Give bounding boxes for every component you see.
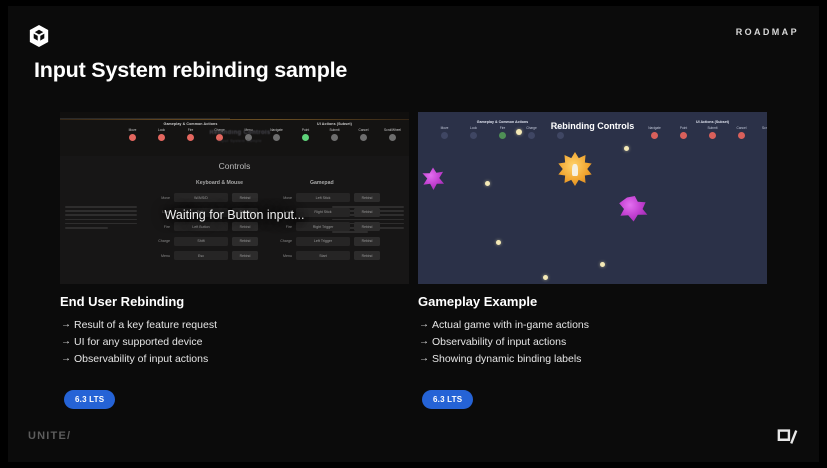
gamepad-binding-list: Move Left Stick Rebind Look Right Stick … bbox=[270, 192, 380, 265]
left-bullet-list: → Result of a key feature request → UI f… bbox=[61, 319, 217, 370]
controls-panel-title: Controls bbox=[60, 161, 409, 171]
binding-row[interactable]: Charge Left Trigger Rebind bbox=[270, 236, 380, 247]
game-hud-action-scrollwheel: ScrollWheel bbox=[756, 126, 767, 139]
binding-row[interactable]: Fire Left Button Rebind bbox=[148, 221, 258, 232]
status-dot bbox=[273, 134, 280, 141]
page-title: Input System rebinding sample bbox=[34, 58, 347, 83]
status-dot bbox=[158, 134, 165, 141]
right-block-title: Gameplay Example bbox=[418, 294, 537, 309]
waiting-for-input-overlay: Waiting for Button input... bbox=[60, 208, 409, 222]
game-hud-action-move: Move bbox=[430, 126, 459, 139]
binding-value[interactable]: Left Trigger bbox=[296, 237, 350, 246]
hud-action-cancel: Cancel bbox=[349, 128, 378, 141]
rebind-button[interactable]: Rebind bbox=[354, 251, 380, 260]
status-dot bbox=[738, 132, 745, 139]
left-block-title: End User Rebinding bbox=[60, 294, 184, 309]
binding-row[interactable]: Menu Esc Rebind bbox=[148, 250, 258, 261]
right-column: Rebinding Controls Gameplay & Common Act… bbox=[418, 112, 767, 284]
status-dot bbox=[528, 132, 535, 139]
letterbox-left bbox=[0, 0, 8, 468]
list-item: → Observability of input actions bbox=[419, 336, 589, 349]
projectile bbox=[496, 240, 501, 245]
status-dot bbox=[470, 132, 477, 139]
version-badge: 6.3 LTS bbox=[64, 390, 115, 409]
binding-value[interactable]: Left Stick bbox=[296, 193, 350, 202]
game-hud-action-fire: Fire bbox=[488, 126, 517, 139]
status-dot bbox=[557, 132, 564, 139]
rebind-button[interactable]: Rebind bbox=[232, 222, 258, 231]
game-hud-action-submit: Submit bbox=[698, 126, 727, 139]
status-dot bbox=[441, 132, 448, 139]
arrow-icon: → bbox=[61, 319, 74, 331]
binding-value[interactable]: W/A/S/D bbox=[174, 193, 228, 202]
list-item: → Result of a key feature request bbox=[61, 319, 217, 332]
hud-ui-title: UI Actions (Subset) bbox=[262, 122, 407, 126]
game-hud-ui-group: UI Actions (Subset) Navigate Point Submi… bbox=[640, 120, 767, 139]
status-dot bbox=[499, 132, 506, 139]
binding-row[interactable]: Fire Right Trigger Rebind bbox=[270, 221, 380, 232]
game-hud-action-cancel: Cancel bbox=[727, 126, 756, 139]
letterbox-top bbox=[0, 0, 827, 6]
left-column: Gameplay & Common Actions Move Look Fire bbox=[60, 112, 409, 284]
status-dot bbox=[389, 134, 396, 141]
enemy-sprite bbox=[618, 196, 648, 222]
hud-action-submit: Submit bbox=[320, 128, 349, 141]
projectile bbox=[485, 181, 490, 186]
arrow-icon: → bbox=[61, 336, 74, 348]
version-badge: 6.3 LTS bbox=[422, 390, 473, 409]
section-label: ROADMAP bbox=[736, 27, 799, 37]
end-user-rebinding-screenshot: Gameplay & Common Actions Move Look Fire bbox=[60, 112, 409, 284]
status-dot bbox=[129, 134, 136, 141]
status-dot bbox=[680, 132, 687, 139]
projectile bbox=[624, 146, 629, 151]
game-hud-action-navigate: Navigate bbox=[640, 126, 669, 139]
status-dot bbox=[360, 134, 367, 141]
binding-row[interactable]: Move W/A/S/D Rebind bbox=[148, 192, 258, 203]
game-hud-action-point: Point bbox=[669, 126, 698, 139]
game-hud-ui-title: UI Actions (Subset) bbox=[640, 120, 767, 124]
binding-value[interactable]: Esc bbox=[174, 251, 228, 260]
arrow-icon: → bbox=[419, 336, 432, 348]
gameplay-example-screenshot: Rebinding Controls Gameplay & Common Act… bbox=[418, 112, 767, 284]
hud-ui-row: Navigate Point Submit Cancel bbox=[262, 128, 407, 141]
list-item: → Showing dynamic binding labels bbox=[419, 353, 589, 366]
letterbox-right bbox=[819, 0, 827, 468]
event-label: UNITE/ bbox=[28, 430, 71, 442]
game-hud-action-look: Look bbox=[459, 126, 488, 139]
player-sprite bbox=[558, 152, 592, 186]
binding-value[interactable]: Shift bbox=[174, 237, 228, 246]
projectile bbox=[600, 262, 605, 267]
rebind-button[interactable]: Rebind bbox=[232, 193, 258, 202]
list-item: → Actual game with in-game actions bbox=[419, 319, 589, 332]
projectile bbox=[543, 275, 548, 280]
status-dot bbox=[709, 132, 716, 139]
game-hud-gameplay-group: Gameplay & Common Actions Move Look Fire bbox=[430, 120, 575, 139]
rebind-button[interactable]: Rebind bbox=[354, 222, 380, 231]
status-dot bbox=[651, 132, 658, 139]
right-bullet-list: → Actual game with in-game actions → Obs… bbox=[419, 319, 589, 370]
status-dot bbox=[302, 134, 309, 141]
enemy-sprite bbox=[421, 167, 445, 191]
binding-row[interactable]: Charge Shift Rebind bbox=[148, 236, 258, 247]
hud-action-point: Point bbox=[291, 128, 320, 141]
game-hud-gameplay-row: Move Look Fire Charge bbox=[430, 126, 575, 139]
letterbox-bottom bbox=[0, 462, 827, 468]
list-item: → UI for any supported device bbox=[61, 336, 217, 349]
rebind-button[interactable]: Rebind bbox=[232, 251, 258, 260]
rebind-button[interactable]: Rebind bbox=[354, 193, 380, 202]
game-hud-action-menu: Menu bbox=[546, 126, 575, 139]
device-column-keyboard: Keyboard & Mouse bbox=[196, 180, 243, 186]
hud-gameplay-title: Gameplay & Common Actions bbox=[118, 122, 263, 126]
list-item: → Observability of input actions bbox=[61, 353, 217, 366]
unity-u-slash-icon bbox=[777, 428, 799, 446]
hud-action-scrollwheel: ScrollWheel bbox=[378, 128, 407, 141]
slide-root: ROADMAP Input System rebinding sample Ga… bbox=[0, 0, 827, 468]
binding-row[interactable]: Menu Start Rebind bbox=[270, 250, 380, 261]
arrow-icon: → bbox=[419, 353, 432, 365]
hud-action-move: Move bbox=[118, 128, 147, 141]
game-hud-gameplay-title: Gameplay & Common Actions bbox=[430, 120, 575, 124]
arrow-icon: → bbox=[419, 319, 432, 331]
game-hud-ui-row: Navigate Point Submit Cancel bbox=[640, 126, 767, 139]
status-dot bbox=[331, 134, 338, 141]
rebind-button[interactable]: Rebind bbox=[232, 237, 258, 246]
hud-ui-group: UI Actions (Subset) Navigate Point Submi… bbox=[262, 122, 407, 141]
arrow-icon: → bbox=[61, 353, 74, 365]
unity-cube-icon bbox=[28, 24, 50, 48]
binding-value[interactable]: Right Trigger bbox=[296, 222, 350, 231]
binding-value[interactable]: Start bbox=[296, 251, 350, 260]
device-column-gamepad: Gamepad bbox=[310, 180, 334, 186]
binding-value[interactable]: Left Button bbox=[174, 222, 228, 231]
projectile bbox=[516, 129, 522, 135]
hud-bar: Gameplay & Common Actions Move Look Fire bbox=[60, 120, 409, 156]
keyboard-binding-list: Move W/A/S/D Rebind Look Delta Rebind Fi… bbox=[148, 192, 258, 265]
hud-action-navigate: Navigate bbox=[262, 128, 291, 141]
rebind-button[interactable]: Rebind bbox=[354, 237, 380, 246]
binding-row[interactable]: Move Left Stick Rebind bbox=[270, 192, 380, 203]
